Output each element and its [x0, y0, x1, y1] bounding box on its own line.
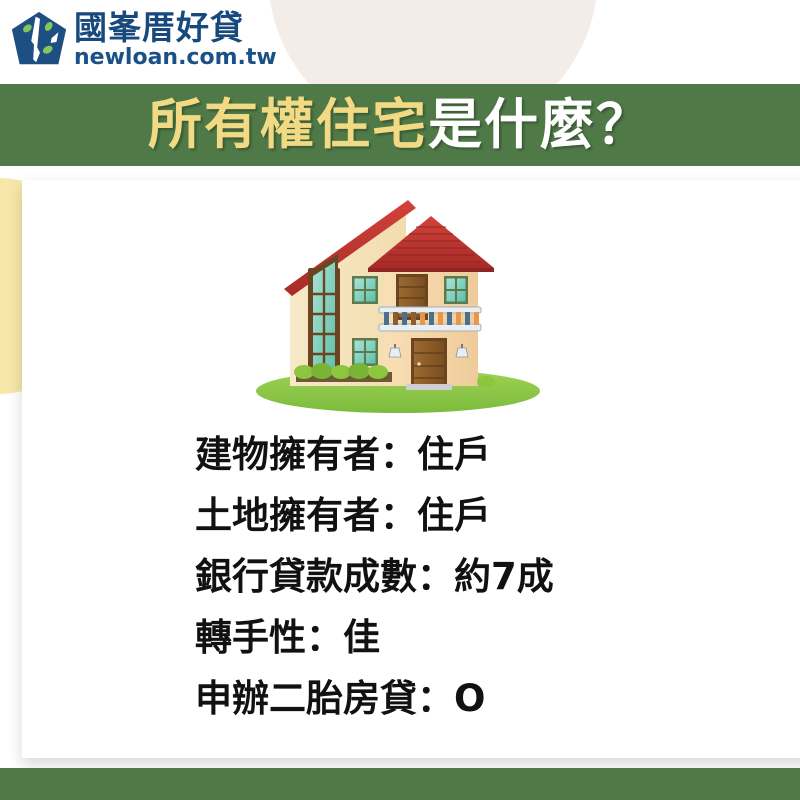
title-banner: 所有權住宅是什麼？: [0, 84, 800, 166]
page-title-rest: 是什麼？: [428, 93, 652, 156]
footer-bar: [0, 768, 800, 800]
brand-text-block: 國峯厝好貸 newloan.com.tw: [74, 11, 277, 69]
pentagon-leaf-logo-icon: [8, 9, 70, 71]
list-item: 轉手性：佳: [195, 607, 695, 668]
brand-name: 國峯厝好貸: [74, 11, 277, 44]
poster-canvas: 國峯厝好貸 newloan.com.tw 所有權住宅是什麼？: [0, 0, 800, 800]
list-item: 建物擁有者：住戶: [195, 424, 695, 485]
property-detail-list: 建物擁有者：住戶 土地擁有者：住戶 銀行貸款成數：約7成 轉手性：佳 申辦二胎房…: [195, 424, 695, 729]
house-illustration: [248, 186, 552, 418]
brand-logo[interactable]: 國峯厝好貸 newloan.com.tw: [8, 2, 278, 78]
page-title-highlight: 所有權住宅: [148, 93, 428, 156]
list-item: 申辦二胎房貸：O: [195, 668, 695, 729]
list-item: 土地擁有者：住戶: [195, 485, 695, 546]
list-item: 銀行貸款成數：約7成: [195, 546, 695, 607]
page-title: 所有權住宅是什麼？: [148, 98, 652, 152]
brand-website: newloan.com.tw: [74, 47, 277, 69]
